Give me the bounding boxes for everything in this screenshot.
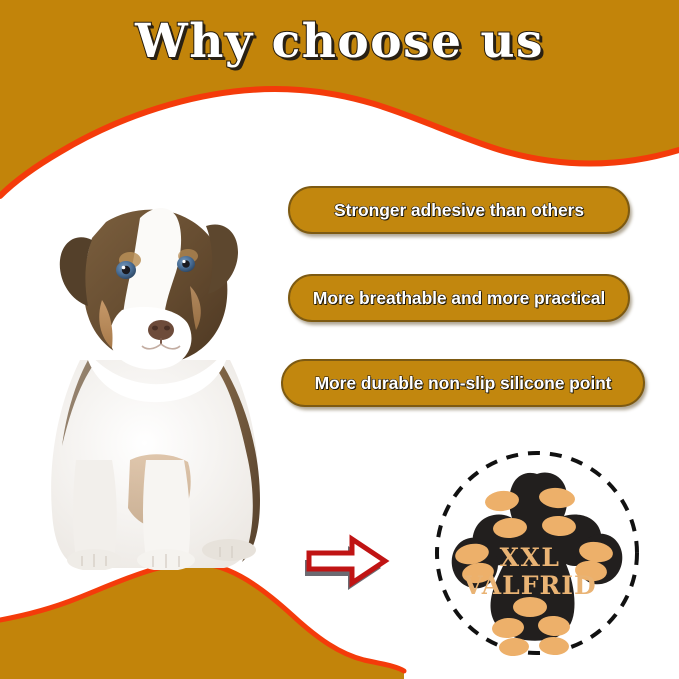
arrow-body bbox=[309, 539, 385, 583]
feature-pill-3[interactable]: More durable non-slip silicone point bbox=[281, 359, 645, 407]
feature-pill-3-label: More durable non-slip silicone point bbox=[315, 373, 612, 394]
paw-pad-icon: XXL VALFRID bbox=[426, 442, 648, 664]
feature-pill-1[interactable]: Stronger adhesive than others bbox=[288, 186, 630, 234]
feature-pill-1-label: Stronger adhesive than others bbox=[334, 200, 584, 221]
poster-canvas: Why choose us bbox=[0, 0, 679, 679]
puppy-photo bbox=[18, 160, 293, 570]
feature-pill-2-label: More breathable and more practical bbox=[313, 288, 605, 309]
feature-pill-2[interactable]: More breathable and more practical bbox=[288, 274, 630, 322]
arrow-right-icon bbox=[300, 528, 392, 590]
page-title: Why choose us bbox=[0, 14, 679, 69]
